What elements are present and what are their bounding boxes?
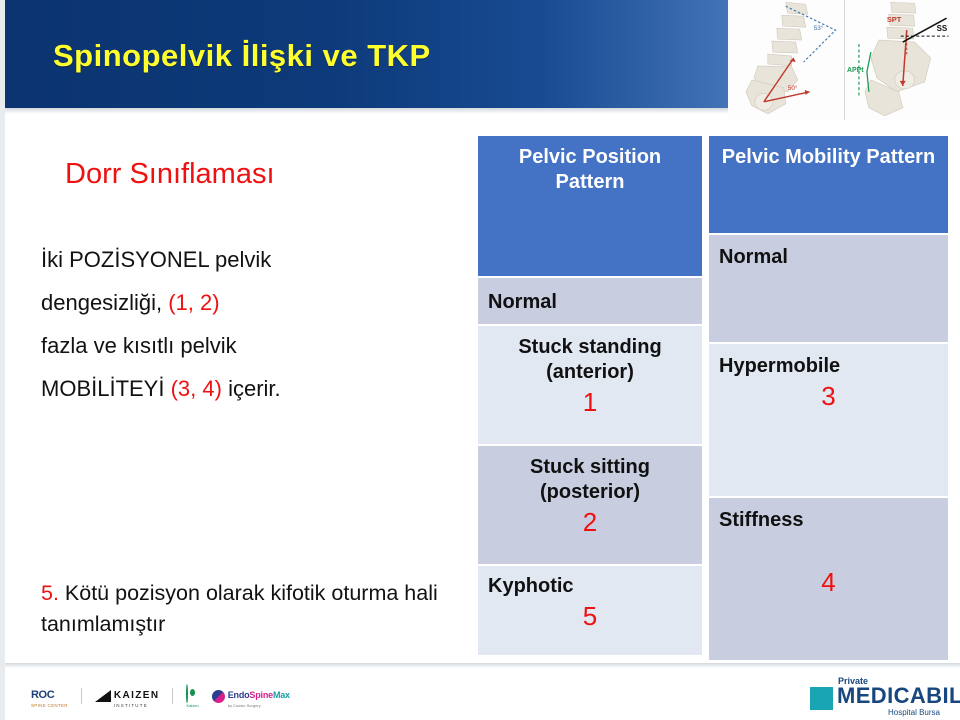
- kaizen-institute-logo: KAIZEN INSTITUTE: [95, 685, 160, 708]
- body-line-4-mark: (3, 4): [171, 376, 222, 401]
- column-header-pelvic-position-label: Pelvic Position Pattern: [488, 145, 692, 195]
- clinic-seal-logo: Kaizen: [186, 685, 198, 708]
- logo-separator-2: [172, 688, 173, 704]
- table-column-pelvic-mobility: Pelvic Mobility Pattern Normal Hypermobi…: [709, 136, 948, 658]
- table-row-stuck-standing-number: 1: [583, 387, 597, 417]
- column-header-pelvic-mobility-label: Pelvic Mobility Pattern: [722, 145, 935, 170]
- svg-text:SPT: SPT: [886, 15, 901, 24]
- column-header-pelvic-position: Pelvic Position Pattern: [478, 136, 702, 276]
- body-line-3-text: fazla ve kısıtlı pelvik: [41, 333, 237, 358]
- dorr-classification-table: Pelvic Position Pattern Normal Stuck sta…: [478, 136, 948, 658]
- body-paragraph: İki POZİSYONEL pelvik dengesizliği, (1, …: [41, 238, 461, 410]
- footnote-text: 5. Kötü pozisyon olarak kifotik oturma h…: [41, 578, 491, 640]
- roc-logo: ROC SPINE CENTER: [31, 685, 68, 708]
- body-line-3: fazla ve kısıtlı pelvik: [41, 324, 461, 367]
- footer-divider: [5, 663, 960, 668]
- body-line-4-text: MOBİLİTEYİ: [41, 376, 171, 401]
- table-row-position-normal-label: Normal: [488, 290, 557, 315]
- table-row-stuck-standing: Stuck standing (anterior) 1: [478, 326, 702, 444]
- body-line-2-mark: (1, 2): [168, 290, 219, 315]
- table-row-hypermobile-label: Hypermobile: [719, 354, 938, 379]
- table-row-stuck-sitting-label-line2: (posterior): [540, 480, 640, 505]
- table-row-stiffness: Stiffness 4: [709, 498, 948, 660]
- body-line-2: dengesizliği, (1, 2): [41, 281, 461, 324]
- medicabil-name: MEDICABIL: [837, 685, 960, 707]
- endospinemax-logo-text: EndoSpineMax: [228, 690, 290, 700]
- body-line-4-post: içerir.: [222, 376, 281, 401]
- table-row-stuck-sitting-label-line1: Stuck sitting: [530, 455, 650, 480]
- body-line-4: MOBİLİTEYİ (3, 4) içerir.: [41, 367, 461, 410]
- endospinemax-logo: EndoSpineMax by Cousin Surgery: [212, 685, 290, 708]
- medicabil-square-icon: [810, 687, 833, 710]
- section-heading: Dorr Sınıflaması: [65, 158, 275, 191]
- footer-logo-strip: ROC SPINE CENTER KAIZEN INSTITUTE Kaizen…: [31, 682, 290, 710]
- pelvic-tilt-figure: APPt SPT SS: [844, 0, 960, 120]
- table-row-stuck-standing-label-line1: Stuck standing: [518, 335, 661, 360]
- medicabil-hospital-logo: Private MEDICABIL Hospital Bursa: [802, 676, 942, 716]
- pelvic-tilt-svg: APPt SPT SS: [845, 0, 960, 120]
- endospinemax-text-b: Spine: [249, 690, 273, 700]
- endospinemax-icon: [212, 690, 225, 703]
- header-figures: 53° 50° APPt: [728, 0, 960, 120]
- kaizen-logo-text: KAIZEN: [114, 690, 160, 701]
- table-row-stuck-sitting-number: 2: [583, 507, 597, 537]
- logo-separator: [81, 688, 82, 704]
- roc-logo-text: ROC: [31, 689, 54, 701]
- table-row-hypermobile-number: 3: [719, 381, 938, 411]
- clinic-seal-icon: [186, 684, 188, 703]
- table-row-position-normal: Normal: [478, 278, 702, 324]
- footnote-marker: 5.: [41, 581, 59, 605]
- table-row-mobility-normal: Normal: [709, 235, 948, 342]
- endospinemax-text-a: Endo: [228, 690, 250, 700]
- svg-text:50°: 50°: [788, 84, 798, 92]
- table-row-kyphotic-number: 5: [488, 601, 692, 631]
- svg-text:SS: SS: [936, 24, 947, 33]
- body-line-1-text: İki POZİSYONEL pelvik: [41, 247, 271, 272]
- table-row-stuck-standing-label-line2: (anterior): [546, 360, 634, 385]
- table-row-stuck-sitting: Stuck sitting (posterior) 2: [478, 446, 702, 564]
- presentation-slide: Spinopelvik İlişki ve TKP 53°: [0, 0, 960, 720]
- body-line-2-text: dengesizliği,: [41, 290, 168, 315]
- table-row-kyphotic: Kyphotic 5: [478, 566, 702, 655]
- table-column-pelvic-position: Pelvic Position Pattern Normal Stuck sta…: [478, 136, 702, 658]
- clinic-seal-subtext: Kaizen: [186, 703, 198, 708]
- endospinemax-subtext: by Cousin Surgery: [228, 703, 290, 708]
- kaizen-logo-subtext: INSTITUTE: [114, 703, 160, 708]
- medicabil-subtext: Hospital Bursa: [888, 708, 940, 717]
- table-row-stiffness-label: Stiffness: [719, 508, 938, 533]
- table-row-hypermobile: Hypermobile 3: [709, 344, 948, 496]
- column-header-pelvic-mobility: Pelvic Mobility Pattern: [709, 136, 948, 233]
- table-row-stiffness-number: 4: [719, 567, 938, 597]
- roc-logo-subtext: SPINE CENTER: [31, 703, 68, 708]
- page-title: Spinopelvik İlişki ve TKP: [53, 38, 431, 74]
- endospinemax-text-c: Max: [273, 690, 290, 700]
- lumbopelvic-angles-figure: 53° 50°: [728, 0, 844, 120]
- footnote-body: Kötü pozisyon olarak kifotik oturma hali…: [41, 581, 438, 636]
- table-row-kyphotic-label: Kyphotic: [488, 574, 692, 599]
- kaizen-triangle-icon: [95, 690, 111, 702]
- body-line-1: İki POZİSYONEL pelvik: [41, 238, 461, 281]
- svg-text:APPt: APPt: [846, 67, 863, 74]
- svg-text:53°: 53°: [814, 24, 824, 32]
- table-row-mobility-normal-label: Normal: [719, 245, 788, 270]
- lumbopelvic-angles-svg: 53° 50°: [728, 0, 844, 120]
